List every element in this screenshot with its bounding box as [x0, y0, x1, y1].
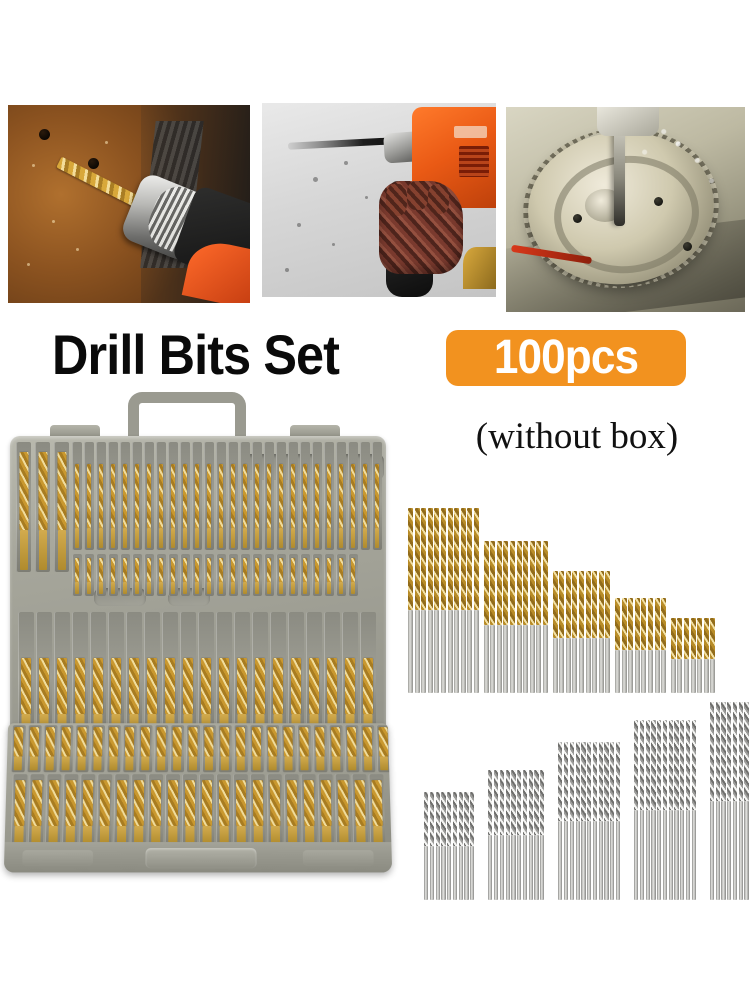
drill-bit — [284, 727, 293, 756]
bit-slot — [360, 612, 376, 732]
bit-flute — [441, 792, 445, 846]
drill-bit — [529, 770, 533, 900]
bit-shank — [315, 582, 319, 594]
bit-slot — [240, 442, 250, 550]
bit-slot — [36, 612, 52, 732]
bit-shank — [529, 835, 533, 900]
product-title: Drill Bits Set — [52, 327, 339, 383]
bit-slot — [108, 442, 118, 550]
drill-bit — [530, 541, 535, 693]
drill-bit — [408, 508, 413, 693]
bit-flute — [448, 508, 453, 610]
bit-flute — [710, 702, 714, 801]
drill-bit — [19, 452, 28, 530]
bit-flute — [436, 792, 440, 846]
drill-bit — [581, 742, 585, 900]
bit-flute — [558, 742, 562, 821]
bit-shank — [646, 810, 650, 900]
bit-slot — [132, 442, 142, 550]
drill-bit — [123, 558, 127, 582]
bit-shank — [303, 528, 307, 548]
bit-slot — [108, 612, 124, 732]
bit-shank — [111, 582, 115, 594]
drill-bit — [586, 571, 591, 693]
drill-bit — [447, 792, 451, 900]
bit-shank — [316, 756, 324, 770]
bit-slot — [192, 554, 202, 596]
drill-bit — [48, 780, 59, 826]
drill-bit — [716, 702, 720, 900]
drill-bit — [57, 452, 66, 530]
bit-slot — [284, 774, 300, 846]
bit-flute — [604, 742, 608, 821]
drill-bit — [87, 464, 91, 528]
photo-drill-press-on-flywheel — [506, 107, 745, 312]
bit-slot — [252, 612, 268, 732]
bit-shank — [157, 756, 165, 770]
bit-flute — [651, 720, 655, 810]
bit-slot — [180, 442, 190, 550]
drill-bit — [75, 464, 79, 528]
bit-group — [488, 770, 546, 900]
drill-bit — [218, 780, 228, 826]
bit-slot — [54, 442, 69, 572]
bit-slot — [180, 554, 190, 596]
drill-bit — [279, 558, 283, 582]
bit-shank — [75, 528, 79, 548]
bit-slot — [18, 612, 34, 732]
bit-shank — [415, 610, 420, 693]
bit-shank — [434, 610, 439, 693]
drill-bit — [231, 558, 235, 582]
bit-slot — [120, 442, 130, 550]
bit-slot — [335, 774, 352, 846]
bit-slot — [54, 612, 70, 732]
bit-slot — [72, 554, 82, 596]
bit-shank — [510, 625, 515, 693]
bit-slot — [11, 774, 28, 846]
bit-shank — [75, 582, 79, 594]
bit-slot — [144, 554, 154, 596]
drill-bit — [640, 720, 644, 900]
bit-shank — [697, 659, 702, 693]
drill-bit — [135, 558, 139, 582]
bit-slot — [162, 612, 178, 732]
drill-bit — [615, 598, 620, 693]
bit-row — [11, 774, 388, 846]
bit-slot — [376, 725, 391, 772]
drill-bit — [434, 508, 439, 693]
bit-slot — [74, 725, 89, 772]
drill-bit — [576, 742, 580, 900]
bit-slot — [16, 442, 31, 572]
bit-flute — [536, 541, 541, 625]
bit-slot — [165, 774, 180, 846]
bit-shank — [279, 582, 283, 594]
bit-flute — [474, 508, 479, 610]
drill-bit — [303, 464, 307, 528]
bit-slot — [96, 554, 106, 596]
bit-shank — [454, 610, 459, 693]
bit-slot — [96, 774, 112, 846]
bit-shank — [641, 650, 646, 693]
bit-shank — [593, 821, 597, 900]
bit-shank — [267, 582, 271, 594]
drill-bit — [291, 558, 295, 582]
bit-shank — [77, 756, 85, 770]
bit-shank — [267, 528, 271, 548]
bit-flute — [447, 792, 451, 846]
bit-slot — [11, 725, 26, 772]
bit-shank — [243, 528, 247, 548]
bit-flute — [511, 770, 515, 835]
bit-flute — [697, 618, 702, 659]
bit-slot — [192, 442, 202, 550]
bit-row — [11, 725, 392, 772]
bit-shank — [221, 756, 229, 770]
bit-shank — [655, 650, 660, 693]
bit-shank — [291, 582, 295, 594]
loose-titanium-coated-bits — [408, 478, 750, 693]
drill-bit — [219, 658, 229, 714]
bit-shank — [558, 821, 562, 900]
drill-bit — [183, 658, 193, 714]
drill-bit — [604, 742, 608, 900]
bit-shank — [58, 530, 66, 570]
bit-slot — [216, 612, 232, 732]
drill-bit — [599, 742, 603, 900]
bit-shank — [686, 810, 690, 900]
bit-flute — [434, 508, 439, 610]
bit-flute — [733, 702, 737, 801]
bit-shank — [517, 625, 522, 693]
bit-shank — [490, 625, 495, 693]
bit-shank — [733, 801, 737, 900]
drill-bit — [510, 541, 515, 693]
drill-bit — [523, 541, 528, 693]
bit-shank — [93, 756, 101, 770]
bit-shank — [576, 821, 580, 900]
drill-bit — [327, 464, 331, 528]
bit-slot — [249, 725, 263, 772]
drill-bit — [684, 618, 689, 693]
bit-slot — [168, 554, 178, 596]
bit-shank — [710, 659, 715, 693]
bit-flute — [408, 508, 413, 610]
bit-slot — [204, 554, 214, 596]
drill-bit — [610, 742, 614, 900]
bit-flute — [635, 598, 640, 650]
bit-slot — [198, 612, 214, 732]
bit-flute — [553, 571, 558, 638]
drill-bit — [273, 658, 283, 714]
drill-bit — [129, 658, 139, 714]
bit-slot — [281, 725, 296, 772]
drill-bit — [441, 508, 446, 693]
bit-slot — [90, 612, 106, 732]
drill-bit — [252, 780, 262, 826]
bit-slot — [35, 442, 50, 572]
bit-shank — [183, 528, 187, 548]
drill-bit — [534, 770, 538, 900]
bit-shank — [540, 835, 544, 900]
drill-bit — [99, 464, 103, 528]
drill-bit — [327, 558, 331, 582]
bit-shank — [123, 528, 127, 548]
bit-flute — [628, 598, 633, 650]
drill-bit — [77, 727, 86, 756]
bit-flute — [579, 571, 584, 638]
drill-bit — [303, 558, 307, 582]
drill-bit — [540, 770, 544, 900]
drill-bit — [467, 508, 472, 693]
tray-grip — [145, 848, 256, 868]
bit-shank — [453, 846, 457, 900]
bit-shank — [219, 582, 223, 594]
bit-slot — [108, 554, 118, 596]
drill-vents — [459, 146, 489, 177]
drill-bit — [237, 658, 247, 714]
bit-shank — [605, 638, 610, 693]
drill-bit — [671, 618, 676, 693]
drill-bit — [436, 792, 440, 900]
drill-bit — [616, 742, 620, 900]
bit-group — [408, 508, 481, 693]
drill-bit — [75, 558, 79, 582]
bit-flute — [453, 792, 457, 846]
drill-bit — [593, 742, 597, 900]
bit-slot — [313, 725, 328, 772]
drill-bit — [327, 658, 337, 714]
bit-shank — [380, 756, 388, 770]
drill-bit — [488, 770, 492, 900]
bit-flute — [464, 792, 468, 846]
drill-bit — [517, 770, 521, 900]
bit-flute — [661, 598, 666, 650]
bit-shank — [559, 638, 564, 693]
quantity-badge: 100pcs — [446, 330, 686, 386]
drill-bit — [286, 780, 297, 826]
drill-bit — [710, 702, 714, 900]
bit-slot — [45, 774, 62, 846]
drill-bit — [167, 780, 177, 826]
bit-shank — [616, 821, 620, 900]
drill-bit — [363, 727, 373, 756]
bit-shank — [173, 756, 181, 770]
bit-shank — [46, 756, 54, 770]
bit-slot — [276, 554, 286, 596]
bit-shank — [523, 625, 528, 693]
drill-bit — [111, 658, 121, 714]
bit-flute — [586, 571, 591, 638]
bit-shank — [599, 638, 604, 693]
drill-bit — [171, 464, 175, 528]
bit-shank — [447, 846, 451, 900]
bit-flute — [543, 541, 548, 625]
bit-flute — [430, 792, 434, 846]
loose-hss-steel-bits — [424, 700, 750, 900]
bit-shank — [231, 582, 235, 594]
bit-shank — [543, 625, 548, 693]
bit-shank — [327, 582, 331, 594]
drill-bit — [111, 558, 115, 582]
bit-flute — [428, 508, 433, 610]
drill-bit — [692, 720, 696, 900]
bit-slot — [106, 725, 120, 772]
bit-shank — [279, 528, 283, 548]
bit-shank — [99, 528, 103, 548]
bit-flute — [566, 571, 571, 638]
bit-shank — [441, 846, 445, 900]
drill-bit — [428, 508, 433, 693]
bit-shank — [300, 756, 308, 770]
drill-bit — [733, 702, 737, 900]
bit-flute — [488, 770, 492, 835]
drill-bit — [147, 464, 151, 528]
without-box-note: (without box) — [452, 415, 702, 458]
bit-shank — [497, 625, 502, 693]
tray-pad — [22, 850, 93, 866]
bit-shank — [511, 835, 515, 900]
bit-slot — [342, 612, 358, 732]
bit-shank — [291, 528, 295, 548]
drill-bit — [243, 464, 247, 528]
bit-slot — [360, 725, 375, 772]
drill-bit — [511, 770, 515, 900]
drill-bit — [453, 792, 457, 900]
bit-group — [634, 720, 698, 900]
bit-flute — [441, 508, 446, 610]
drill-bit — [430, 792, 434, 900]
bit-slot — [182, 774, 197, 846]
bit-shank — [339, 582, 343, 594]
drill-bit — [424, 792, 428, 900]
bit-shank — [87, 582, 91, 594]
gold-bit-edge — [463, 247, 496, 290]
drill-bit — [570, 742, 574, 900]
bit-row — [72, 442, 384, 550]
drill-bit — [184, 780, 194, 826]
bit-flute — [424, 792, 428, 846]
drill-bit — [553, 571, 558, 693]
bit-shank — [147, 582, 151, 594]
drill-bit — [448, 508, 453, 693]
drill-bit — [339, 464, 343, 528]
drill-bit — [536, 541, 541, 693]
bit-slot — [122, 725, 136, 772]
drill-bit — [159, 558, 163, 582]
bit-slot — [144, 612, 160, 732]
bit-shank — [610, 821, 614, 900]
bit-shank — [20, 530, 28, 570]
drill-bit — [315, 464, 319, 528]
bit-slot — [312, 442, 322, 550]
bit-flute — [692, 720, 696, 810]
bit-flute — [721, 702, 725, 801]
bit-shank — [375, 528, 379, 548]
drill-bit — [628, 598, 633, 693]
bit-slot — [28, 774, 45, 846]
bit-flute — [657, 720, 661, 810]
bit-shank — [680, 810, 684, 900]
drill-bit — [141, 727, 150, 756]
bit-shank — [579, 638, 584, 693]
bit-shank — [171, 528, 175, 548]
bit-flute — [739, 702, 743, 801]
drill-bit — [347, 727, 357, 756]
bit-slot — [312, 554, 322, 596]
drill-bit — [173, 727, 182, 756]
bit-shank — [207, 528, 211, 548]
drill-bit — [646, 720, 650, 900]
drill-bit — [351, 558, 355, 582]
bit-flute — [570, 742, 574, 821]
drill-bit — [564, 742, 568, 900]
drill-bit — [503, 541, 508, 693]
drill-bit — [61, 727, 71, 756]
bit-slot — [360, 442, 370, 550]
bit-shank — [424, 846, 428, 900]
bit-flute — [593, 742, 597, 821]
drill-bit — [268, 727, 277, 756]
drill-bit — [269, 780, 280, 826]
drill-bit — [31, 780, 42, 826]
bit-shank — [484, 625, 489, 693]
bit-slot — [318, 774, 334, 846]
bit-shank — [147, 528, 151, 548]
drill-bit — [320, 780, 331, 826]
drill-bit — [93, 727, 102, 756]
drill-bit — [235, 780, 245, 826]
case-bottom-tray — [4, 723, 392, 872]
drill-bit — [559, 571, 564, 693]
bit-slot — [288, 554, 298, 596]
drill-bit — [157, 727, 166, 756]
bit-slot — [264, 554, 274, 596]
bit-shank — [640, 810, 644, 900]
bit-flute — [655, 598, 660, 650]
drill-bit — [605, 571, 610, 693]
drill-bit — [207, 558, 211, 582]
bit-slot — [27, 725, 42, 772]
bit-slot — [204, 442, 214, 550]
drill-bit — [65, 780, 76, 826]
bit-slot — [234, 612, 250, 732]
bit-shank — [99, 582, 103, 594]
bit-shank — [159, 582, 163, 594]
drill-bit — [363, 658, 373, 714]
drill-bit — [500, 770, 504, 900]
bit-flute — [674, 720, 678, 810]
bit-flute — [684, 618, 689, 659]
bit-shank — [744, 801, 748, 900]
drill-bit — [219, 558, 223, 582]
bit-shank — [599, 821, 603, 900]
drill-bit — [14, 727, 24, 756]
bit-shank — [461, 610, 466, 693]
bit-slot — [324, 442, 334, 550]
bit-flute — [540, 770, 544, 835]
drill-label — [454, 126, 487, 138]
bit-shank — [159, 528, 163, 548]
bit-flute — [677, 618, 682, 659]
bit-flute — [648, 598, 653, 650]
bit-slot — [250, 774, 266, 846]
drill-bit — [572, 571, 577, 693]
drill-bit — [299, 727, 308, 756]
bit-flute — [704, 618, 709, 659]
bit-flute — [503, 541, 508, 625]
